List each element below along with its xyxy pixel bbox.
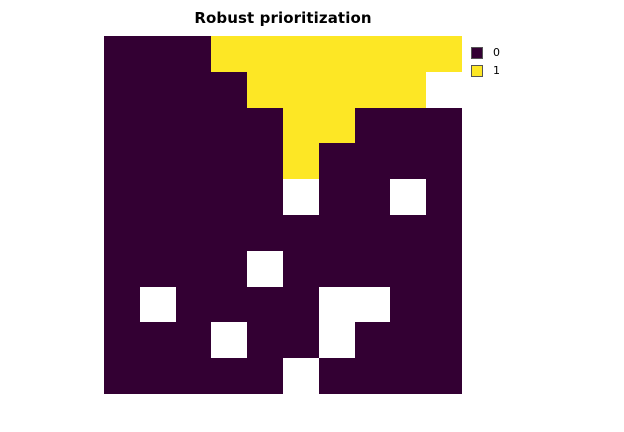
heatmap-cell	[355, 215, 391, 251]
legend-item-label: 0	[493, 47, 500, 59]
heatmap-cell	[283, 72, 319, 108]
heatmap-cell	[319, 36, 355, 72]
heatmap-cell	[426, 143, 462, 179]
heatmap-cell	[176, 108, 212, 144]
heatmap-cell	[104, 36, 140, 72]
heatmap-cell	[283, 143, 319, 179]
heatmap-cell	[247, 179, 283, 215]
heatmap-cell	[390, 251, 426, 287]
heatmap-cell	[247, 72, 283, 108]
legend-item[interactable]: 0	[471, 44, 531, 62]
heatmap-cell	[283, 251, 319, 287]
heatmap-cell	[355, 287, 391, 323]
heatmap-cell	[140, 287, 176, 323]
heatmap-cell	[426, 251, 462, 287]
heatmap-cell	[390, 143, 426, 179]
heatmap-cell	[426, 179, 462, 215]
heatmap-cell	[426, 36, 462, 72]
heatmap-cell	[140, 322, 176, 358]
heatmap-cell	[104, 143, 140, 179]
heatmap-cell	[211, 322, 247, 358]
heatmap-cell	[211, 36, 247, 72]
heatmap-cell	[247, 108, 283, 144]
heatmap-cell	[390, 287, 426, 323]
heatmap-cell	[390, 358, 426, 394]
heatmap-cell	[211, 251, 247, 287]
heatmap-cell	[283, 108, 319, 144]
heatmap-cell	[247, 287, 283, 323]
heatmap-cell	[211, 358, 247, 394]
legend-item[interactable]: 1	[471, 62, 531, 80]
heatmap-cell	[426, 358, 462, 394]
heatmap-cell	[247, 251, 283, 287]
heatmap-cell	[247, 358, 283, 394]
heatmap-cell	[283, 287, 319, 323]
heatmap-cell	[319, 322, 355, 358]
heatmap-cell	[176, 251, 212, 287]
heatmap-cell	[283, 358, 319, 394]
heatmap-cell	[390, 36, 426, 72]
heatmap-cell	[211, 287, 247, 323]
page-title: Robust prioritization	[104, 8, 462, 28]
heatmap-cell	[247, 36, 283, 72]
heatmap-cell	[426, 72, 462, 108]
heatmap-cell	[104, 251, 140, 287]
heatmap-cell	[319, 287, 355, 323]
heatmap-cell	[355, 251, 391, 287]
heatmap-cell	[319, 358, 355, 394]
heatmap-cell	[247, 215, 283, 251]
heatmap-cell	[140, 36, 176, 72]
heatmap-cell	[355, 143, 391, 179]
legend-swatch-icon	[471, 47, 483, 59]
figure-canvas: Robust prioritization 01	[0, 0, 624, 432]
heatmap-cell	[426, 322, 462, 358]
heatmap-grid	[104, 36, 462, 394]
heatmap-cell	[283, 215, 319, 251]
heatmap-cell	[283, 36, 319, 72]
heatmap-cell	[176, 215, 212, 251]
heatmap-cell	[355, 179, 391, 215]
heatmap-cell	[247, 143, 283, 179]
heatmap-cell	[211, 72, 247, 108]
heatmap-cell	[283, 179, 319, 215]
heatmap-cell	[104, 179, 140, 215]
heatmap-cell	[355, 72, 391, 108]
heatmap-cell	[140, 179, 176, 215]
heatmap-cell	[140, 215, 176, 251]
heatmap-cell	[104, 358, 140, 394]
heatmap-cell	[176, 358, 212, 394]
heatmap-cell	[104, 215, 140, 251]
heatmap-cell	[140, 358, 176, 394]
heatmap-cell	[390, 322, 426, 358]
legend-swatch-icon	[471, 65, 483, 77]
heatmap-cell	[390, 108, 426, 144]
heatmap-cell	[211, 108, 247, 144]
heatmap-cell	[319, 215, 355, 251]
heatmap-cell	[426, 287, 462, 323]
heatmap-cell	[319, 179, 355, 215]
heatmap-cell	[355, 358, 391, 394]
legend: 01	[471, 44, 531, 80]
heatmap-cell	[176, 322, 212, 358]
heatmap-cell	[104, 287, 140, 323]
legend-item-label: 1	[493, 65, 500, 77]
heatmap-axes	[104, 36, 462, 394]
heatmap-cell	[390, 72, 426, 108]
heatmap-cell	[426, 215, 462, 251]
heatmap-cell	[104, 72, 140, 108]
heatmap-cell	[140, 108, 176, 144]
heatmap-cell	[140, 251, 176, 287]
heatmap-cell	[319, 108, 355, 144]
heatmap-cell	[355, 322, 391, 358]
heatmap-cell	[247, 322, 283, 358]
heatmap-cell	[426, 108, 462, 144]
heatmap-cell	[176, 287, 212, 323]
heatmap-cell	[211, 215, 247, 251]
heatmap-cell	[390, 179, 426, 215]
heatmap-cell	[355, 108, 391, 144]
heatmap-cell	[176, 143, 212, 179]
heatmap-cell	[319, 143, 355, 179]
heatmap-cell	[104, 108, 140, 144]
heatmap-cell	[355, 36, 391, 72]
heatmap-cell	[319, 72, 355, 108]
heatmap-cell	[319, 251, 355, 287]
heatmap-cell	[211, 143, 247, 179]
heatmap-cell	[140, 143, 176, 179]
heatmap-cell	[211, 179, 247, 215]
heatmap-cell	[390, 215, 426, 251]
heatmap-cell	[104, 322, 140, 358]
heatmap-cell	[140, 72, 176, 108]
heatmap-cell	[176, 72, 212, 108]
heatmap-cell	[176, 179, 212, 215]
heatmap-cell	[176, 36, 212, 72]
heatmap-cell	[283, 322, 319, 358]
